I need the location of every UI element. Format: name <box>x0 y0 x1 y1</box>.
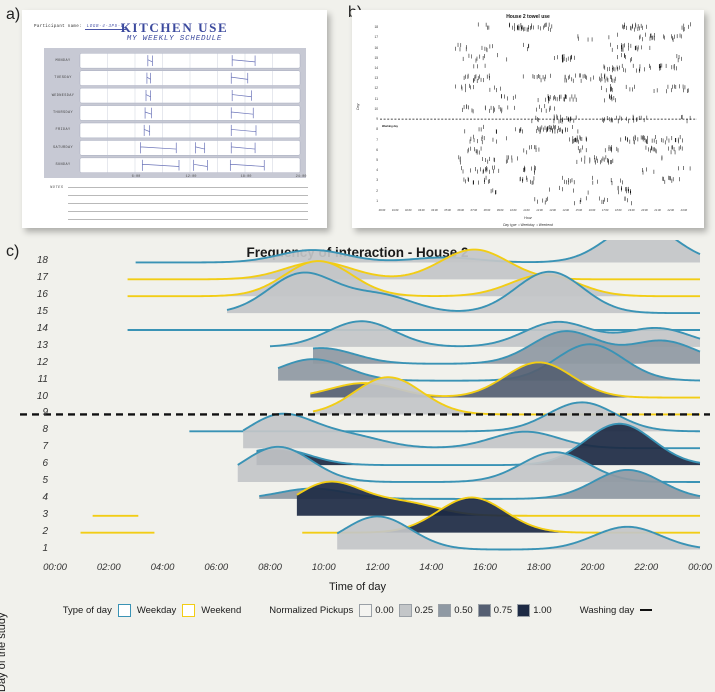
notes-line <box>68 187 308 188</box>
ridgeline-x-tick: 18:00 <box>514 562 564 573</box>
ridgeline-y-tick: 1 <box>20 543 48 554</box>
legend-pickup-value: 1.00 <box>533 605 552 616</box>
ridgeline-x-tick: 16:00 <box>460 562 510 573</box>
legend-pickup-swatch[interactable] <box>359 604 372 617</box>
ridgeline-x-tick: 10:00 <box>299 562 349 573</box>
diary-day-label: TUESDAY <box>46 76 80 80</box>
legend-pickup-swatch[interactable] <box>478 604 491 617</box>
ridgeline-y-tick: 9 <box>20 407 48 418</box>
notes-line <box>68 211 308 212</box>
notes-line <box>68 219 308 220</box>
ridgeline-y-tick: 8 <box>20 424 48 435</box>
legend-swatch-weekday[interactable] <box>118 604 131 617</box>
legend-pickup-swatch[interactable] <box>438 604 451 617</box>
legend-pickup-swatches: 0.000.250.500.751.00 <box>359 604 552 617</box>
notes-line <box>68 203 308 204</box>
notes-line <box>68 195 308 196</box>
ridgeline-y-tick: 12 <box>20 357 48 368</box>
panel-a-paper-diary: Participant name: LOGB-4-3P5-L KITCHEN U… <box>22 10 327 228</box>
legend-pickup-item[interactable]: 0.00 <box>359 604 394 617</box>
ridgeline-legend: Type of day Weekday Weekend Normalized P… <box>0 600 715 620</box>
legend-group-washing-day: Washing day <box>580 605 653 616</box>
panel-c-ylabel: Day of the study <box>0 613 8 692</box>
legend-weekend-label: Weekend <box>201 605 241 616</box>
ridgeline-x-tick: 22:00 <box>621 562 671 573</box>
ridgeline-x-tick: 04:00 <box>138 562 188 573</box>
legend-pickup-swatch[interactable] <box>517 604 530 617</box>
legend-washing-day-label: Washing day <box>580 605 635 616</box>
ridgeline-x-tick: 00:00 <box>675 562 715 573</box>
panel-b-washing-day-label: Washing day <box>382 125 398 128</box>
legend-pickup-swatch[interactable] <box>399 604 412 617</box>
panel-b-plot <box>352 10 704 228</box>
ridgeline-y-tick: 11 <box>20 374 48 385</box>
ridgeline-y-tick: 16 <box>20 289 48 300</box>
legend-pickup-item[interactable]: 1.00 <box>517 604 552 617</box>
ridgeline-x-tick: 08:00 <box>245 562 295 573</box>
legend-pickups-label: Normalized Pickups <box>269 605 353 616</box>
ridgeline-y-tick: 7 <box>20 441 48 452</box>
ridgeline-x-tick: 20:00 <box>568 562 618 573</box>
ridgeline-x-tick: 06:00 <box>191 562 241 573</box>
ridgeline-x-tick: 14:00 <box>406 562 456 573</box>
ridgeline-y-tick: 3 <box>20 509 48 520</box>
panel-c-xlabel: Time of day <box>0 581 715 593</box>
ridgeline-y-tick: 4 <box>20 492 48 503</box>
ridgeline-y-tick: 10 <box>20 391 48 402</box>
ridgeline-x-tick: 02:00 <box>84 562 134 573</box>
diary-day-label: SUNDAY <box>46 163 80 167</box>
diary-time-tick: 6:00 <box>127 175 145 179</box>
legend-pickup-value: 0.50 <box>454 605 473 616</box>
diary-day-label: SATURDAY <box>46 146 80 150</box>
diary-title: KITCHEN USE <box>22 20 327 36</box>
ridgeline-y-tick: 6 <box>20 458 48 469</box>
ridgeline-y-tick: 5 <box>20 475 48 486</box>
diary-day-label: THURSDAY <box>46 111 80 115</box>
legend-group-type-of-day: Type of day Weekday Weekend <box>63 604 242 617</box>
panel-b-towel-use: House 2 towel use Day Hour Day type • We… <box>352 10 704 228</box>
legend-pickup-item[interactable]: 0.75 <box>478 604 513 617</box>
ridgeline-y-tick: 13 <box>20 340 48 351</box>
legend-pickup-item[interactable]: 0.25 <box>399 604 434 617</box>
ridgeline-x-tick: 00:00 <box>30 562 80 573</box>
ridgeline-y-tick: 17 <box>20 272 48 283</box>
legend-pickup-item[interactable]: 0.50 <box>438 604 473 617</box>
legend-swatch-weekend[interactable] <box>182 604 195 617</box>
diary-time-tick: 18:00 <box>237 175 255 179</box>
legend-type-of-day-label: Type of day <box>63 605 112 616</box>
ridgeline-y-tick: 18 <box>20 255 48 266</box>
diary-day-label: WEDNESDAY <box>46 94 80 98</box>
diary-time-tick: 12:00 <box>182 175 200 179</box>
ridgeline-plot <box>0 240 715 570</box>
legend-washing-day-line <box>640 609 652 611</box>
diary-day-label: MONDAY <box>46 59 80 63</box>
diary-day-label: FRIDAY <box>46 128 80 132</box>
legend-pickup-value: 0.25 <box>415 605 434 616</box>
ridgeline-y-tick: 14 <box>20 323 48 334</box>
legend-group-pickups: Normalized Pickups 0.000.250.500.751.00 <box>269 604 551 617</box>
diary-header: Participant name: LOGB-4-3P5-L KITCHEN U… <box>22 18 327 52</box>
ridgeline-x-tick: 12:00 <box>353 562 403 573</box>
ridgeline-y-tick: 15 <box>20 306 48 317</box>
diary-subtitle: MY WEEKLY SCHEDULE <box>22 35 327 43</box>
panel-label-a: a) <box>6 6 20 24</box>
legend-weekday-label: Weekday <box>137 605 176 616</box>
ridgeline-y-tick: 2 <box>20 526 48 537</box>
notes-label: NOTES <box>50 186 63 190</box>
diary-time-tick: 24:00 <box>292 175 310 179</box>
legend-pickup-value: 0.00 <box>375 605 394 616</box>
legend-pickup-value: 0.75 <box>494 605 513 616</box>
figure-root: a) b) c) Participant name: LOGB-4-3P5-L … <box>0 0 715 624</box>
panel-c-ridgeline: Frequency of interaction - House 2 Day o… <box>0 240 715 624</box>
